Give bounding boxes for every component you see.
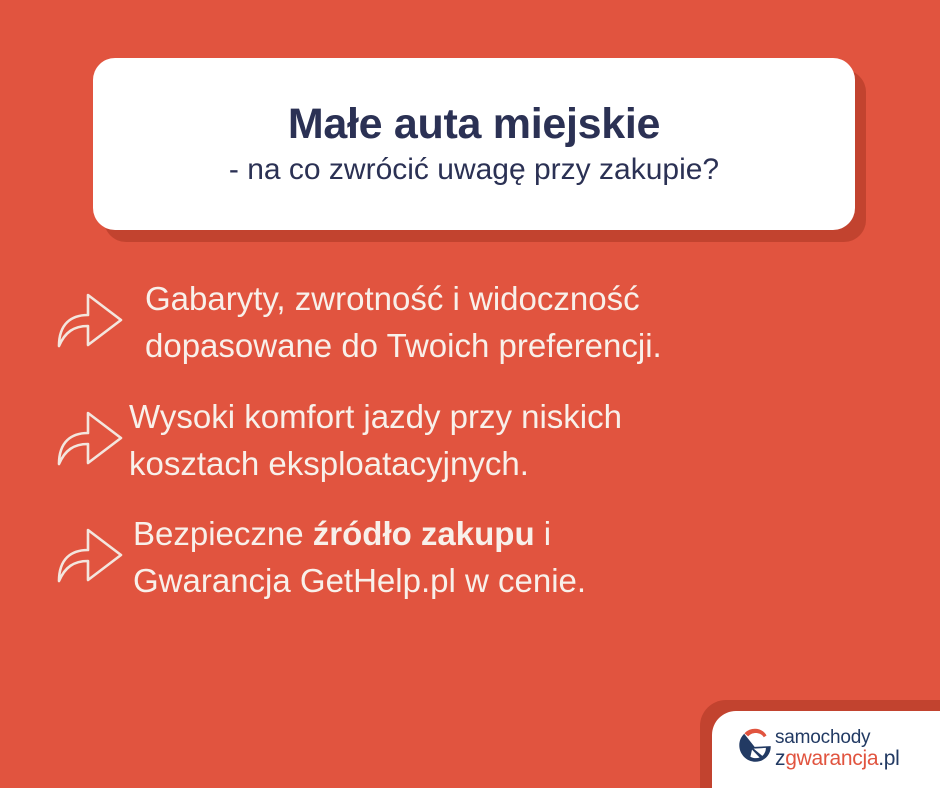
list-item-line1-prefix: Bezpieczne (133, 515, 313, 552)
logo-card: samochody zgwarancja.pl (712, 711, 940, 788)
list-item-line2: Gwarancja GetHelp.pl w cenie. (133, 562, 586, 599)
logo-gwarancja: gwarancja (785, 747, 878, 770)
brand-logo-wordmark: samochody zgwarancja.pl (775, 728, 900, 769)
logo-pl: .pl (878, 747, 899, 770)
brand-logo: samochody zgwarancja.pl (736, 725, 900, 772)
list-item-line1-suffix: i (535, 515, 552, 552)
page-subtitle: - na co zwrócić uwagę przy zakupie? (229, 153, 719, 186)
list-item: Wysoki komfort jazdy przy niskich koszta… (0, 394, 940, 488)
logo-z: z (775, 747, 785, 770)
list-item-line1: Wysoki komfort jazdy przy niskich (129, 398, 622, 435)
logo-line-zgwarancja: zgwarancja.pl (775, 748, 900, 769)
list-item-line2: kosztach eksploatacyjnych. (129, 445, 529, 482)
list-item-line2: dopasowane do Twoich preferencji. (145, 327, 662, 364)
list-item-text: Wysoki komfort jazdy przy niskich koszta… (127, 394, 940, 488)
list-item: Bezpieczne źródło zakupu i Gwarancja Get… (0, 511, 940, 605)
poster-canvas: Małe auta miejskie - na co zwrócić uwagę… (0, 0, 940, 788)
page-title: Małe auta miejskie (288, 102, 660, 147)
list-item-line1: Gabaryty, zwrotność i widoczność (145, 280, 640, 317)
list-item-text: Bezpieczne źródło zakupu i Gwarancja Get… (127, 511, 940, 605)
list-item: Gabaryty, zwrotność i widoczność dopasow… (0, 276, 940, 370)
curved-arrow-right-icon (55, 394, 127, 470)
benefits-list: Gabaryty, zwrotność i widoczność dopasow… (0, 276, 940, 629)
logo-line-samochody: samochody (775, 728, 900, 747)
title-card: Małe auta miejskie - na co zwrócić uwagę… (93, 58, 855, 230)
curved-arrow-right-icon (55, 511, 127, 587)
list-item-line1-highlight: źródło zakupu (313, 515, 535, 552)
curved-arrow-right-icon (55, 276, 127, 352)
list-item-text: Gabaryty, zwrotność i widoczność dopasow… (127, 276, 940, 370)
steering-wheel-icon (736, 725, 772, 772)
